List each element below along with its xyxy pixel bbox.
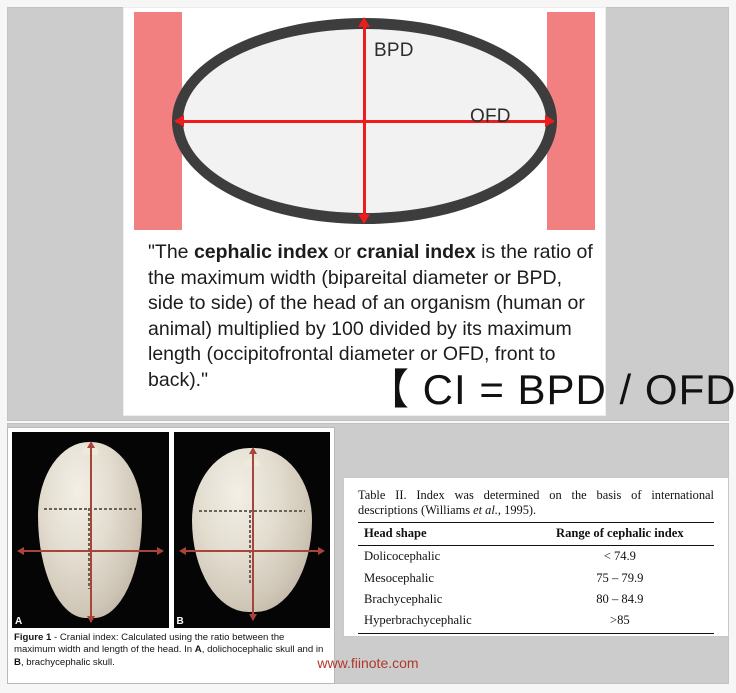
bpd-label: BPD [374,40,414,62]
table-row: Mesocephalic 75 – 79.9 [358,567,714,588]
cell-range: < 74.9 [526,546,714,568]
table-caption: Table II. Index was determined on the ba… [358,488,714,518]
cell-shape: Mesocephalic [358,567,526,588]
table-row: Dolicocephalic < 74.9 [358,546,714,568]
width-arrow-left-a [17,547,24,555]
table-header-row: Head shape Range of cephalic index [358,523,714,546]
width-line-b [182,550,323,552]
length-line-b [252,450,254,620]
skull-photo-a: A [12,432,169,628]
length-arrow-down-a [87,616,95,623]
cell-shape: Dolicocephalic [358,546,526,568]
cephalic-index-table-inner: Table II. Index was determined on the ba… [358,488,714,628]
ellipse-figure: BPD OFD [124,12,605,230]
width-arrow-right-a [157,547,164,555]
ofd-arrow-right-icon [545,115,555,127]
cell-shape: Hyperbrachycephalic [358,610,526,634]
width-arrow-right-b [318,547,325,555]
skull-photo-row: A B [12,432,330,628]
length-line-a [90,444,92,622]
cell-shape: Brachycephalic [358,589,526,610]
length-arrow-up-b [249,447,257,454]
ofd-arrow-left-icon [174,115,184,127]
column-range: Range of cephalic index [526,523,714,546]
screenshot-root: BPD OFD "The cephalic index or cranial i… [0,0,736,693]
cell-range: 75 – 79.9 [526,567,714,588]
table-row: Hyperbrachycephalic >85 [358,610,714,634]
cephalic-index-table-panel: Table II. Index was determined on the ba… [344,478,728,636]
column-head-shape: Head shape [358,523,526,546]
table-row: Brachycephalic 80 – 84.9 [358,589,714,610]
cephalic-index-formula: 【 CI = BPD / OFD 】 [367,368,736,412]
photo-label-a: A [15,616,22,627]
skull-photo-b: B [174,432,331,628]
photo-label-b: B [177,616,184,627]
cell-range: 80 – 84.9 [526,589,714,610]
skull-photo-panel: A B Figure 1 - Cranial index: Calculated… [8,428,334,683]
width-arrow-left-b [179,547,186,555]
cell-range: >85 [526,610,714,634]
length-arrow-down-b [249,614,257,621]
table-body: Dolicocephalic < 74.9 Mesocephalic 75 – … [358,546,714,634]
skull-outline-diagram: BPD OFD [172,18,557,224]
bpd-arrow-up-icon [358,17,370,27]
cephalic-index-table: Head shape Range of cephalic index Dolic… [358,522,714,634]
width-line-a [20,550,161,552]
bpd-arrow-down-icon [358,214,370,224]
length-arrow-up-a [87,441,95,448]
cephalic-index-card: BPD OFD "The cephalic index or cranial i… [124,8,605,415]
ofd-label: OFD [470,106,511,128]
site-watermark: www.fiinote.com [0,655,736,671]
